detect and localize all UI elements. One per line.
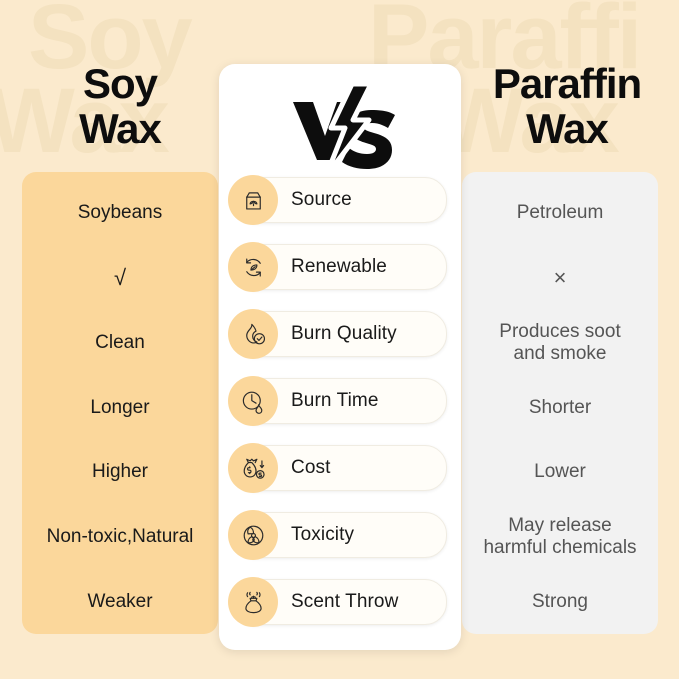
value-cell: Weaker (22, 569, 218, 634)
value-cell: Strong (462, 569, 658, 634)
attribute-row-scent-throw[interactable]: Scent Throw (233, 579, 447, 625)
attribute-row-renewable[interactable]: Renewable (233, 244, 447, 290)
biohazard-icon (228, 510, 278, 560)
value-cell: Higher (22, 440, 218, 505)
scent-sachet-icon (228, 577, 278, 627)
attribute-label: Cost (291, 457, 330, 479)
soy-wax-value-column: Soybeans √ Clean Longer Higher Non-toxic… (22, 172, 218, 634)
attribute-list: Source Renewable (233, 177, 447, 625)
attribute-row-burn-quality[interactable]: Burn Quality (233, 311, 447, 357)
value-cell: √ (22, 246, 218, 311)
comparison-card: Source Renewable (219, 64, 461, 650)
vs-lightning-icon (219, 82, 461, 178)
value-cell: Shorter (462, 375, 658, 440)
flame-check-icon (228, 309, 278, 359)
paraffin-wax-value-column: Petroleum × Produces soot and smoke Shor… (462, 172, 658, 634)
attribute-label: Renewable (291, 256, 387, 278)
attribute-label: Burn Quality (291, 323, 397, 345)
money-bag-icon (228, 443, 278, 493)
attribute-row-cost[interactable]: Cost (233, 445, 447, 491)
value-cell: Petroleum (462, 181, 658, 246)
attribute-row-toxicity[interactable]: Toxicity (233, 512, 447, 558)
value-cell: Longer (22, 375, 218, 440)
value-cell: Produces soot and smoke (462, 310, 658, 375)
attribute-label: Toxicity (291, 524, 354, 546)
value-cell: Soybeans (22, 181, 218, 246)
attribute-label: Burn Time (291, 390, 379, 412)
attribute-row-burn-time[interactable]: Burn Time (233, 378, 447, 424)
value-cell: May release harmful chemicals (462, 505, 658, 570)
soy-wax-title: Soy Wax (24, 62, 216, 151)
attribute-label: Scent Throw (291, 591, 398, 613)
attribute-row-source[interactable]: Source (233, 177, 447, 223)
value-cell: Clean (22, 310, 218, 375)
attribute-label: Source (291, 189, 352, 211)
paraffin-wax-title: Paraffin Wax (462, 62, 672, 151)
clock-flame-icon (228, 376, 278, 426)
value-cell: Non-toxic,Natural (22, 505, 218, 570)
value-cell: Lower (462, 440, 658, 505)
value-cell: × (462, 246, 658, 311)
recycle-leaf-icon (228, 242, 278, 292)
soybean-sack-icon (228, 175, 278, 225)
